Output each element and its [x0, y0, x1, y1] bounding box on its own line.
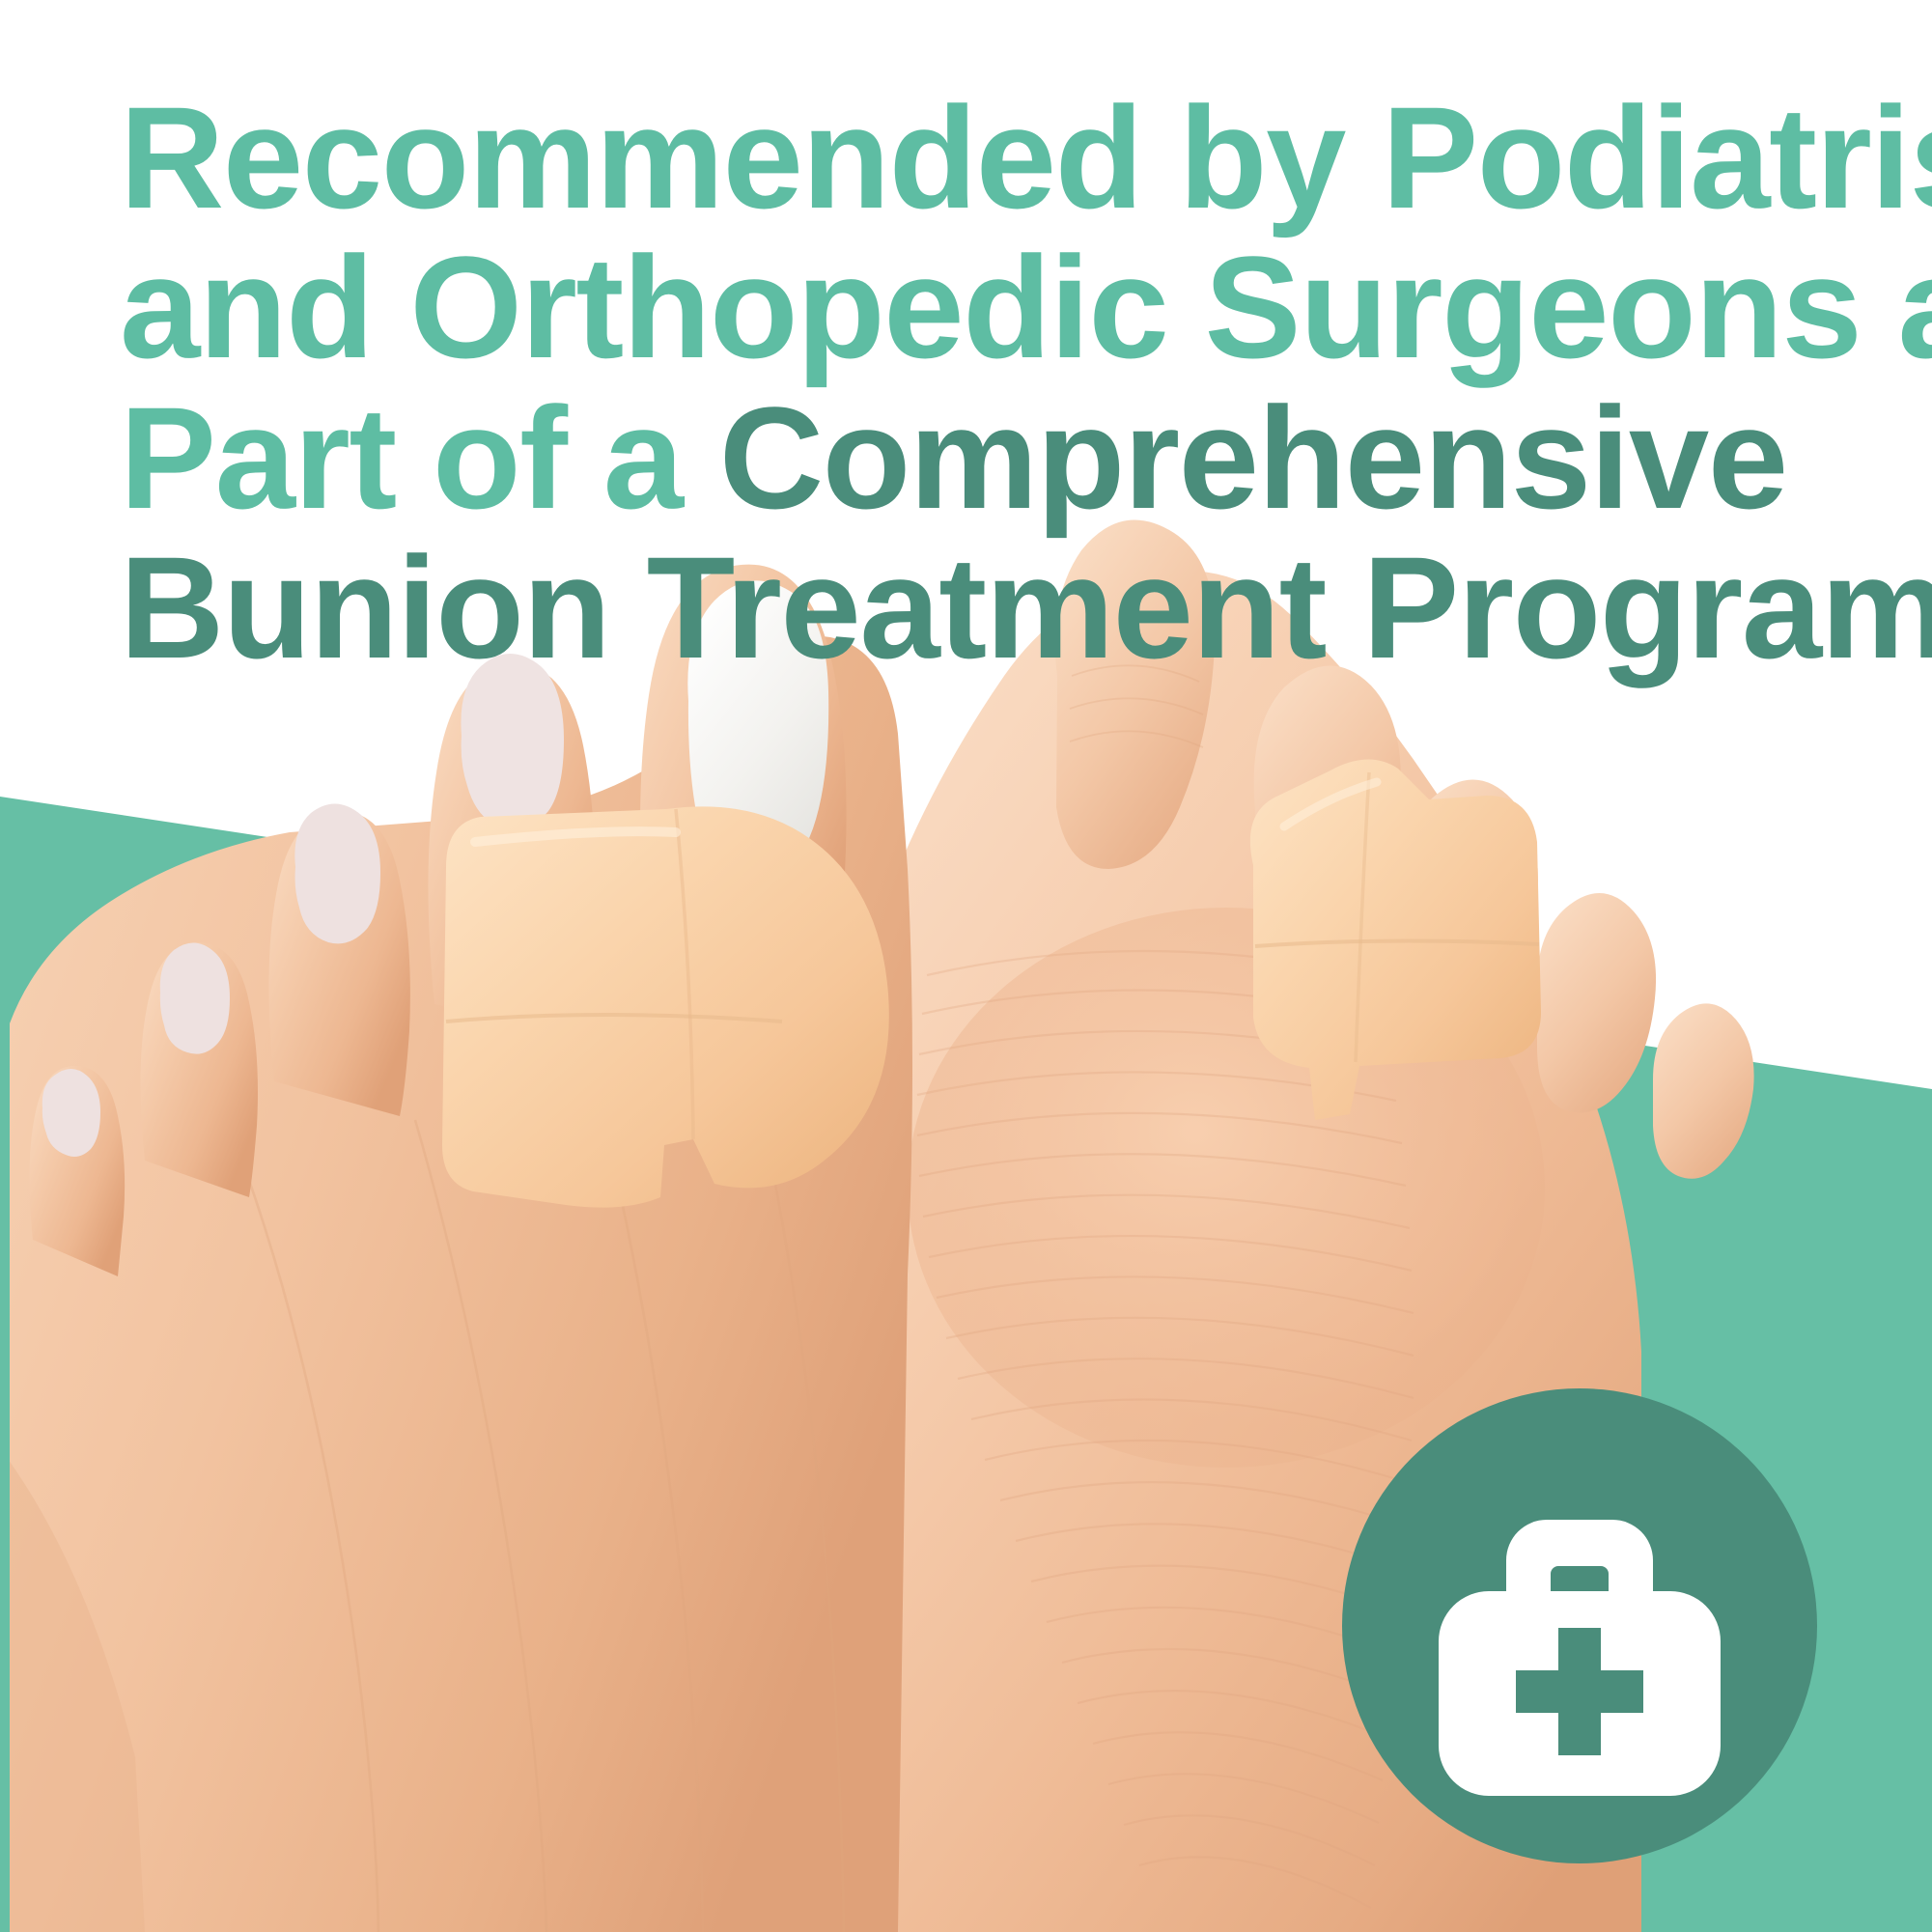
headline-line-2-text: and Orthopedic Surgeons as	[120, 226, 1932, 388]
headline-line-2: and Orthopedic Surgeons as	[120, 233, 1848, 382]
left-fourth-toenail	[160, 942, 230, 1053]
headline-line-1-text: Recommended by Podiatrists	[120, 76, 1932, 238]
headline-line-3a-text: Part of a	[120, 377, 719, 539]
medical-bag-icon	[1342, 1388, 1817, 1863]
right-pinky-toe	[1653, 1003, 1754, 1178]
headline-line-1: Recommended by Podiatrists	[120, 83, 1848, 233]
banner-canvas: Recommended by Podiatrists and Orthopedi…	[0, 0, 1932, 1932]
medical-bag-badge	[1342, 1388, 1817, 1863]
left-pinky-toenail	[42, 1069, 100, 1157]
headline-line-3b-text: Comprehensive	[719, 377, 1787, 539]
headline-line-4: Bunion Treatment Program.	[120, 533, 1848, 683]
left-third-toenail	[294, 803, 380, 943]
headline: Recommended by Podiatrists and Orthopedi…	[120, 83, 1848, 683]
right-fourth-toe	[1537, 893, 1656, 1112]
headline-line-4-text: Bunion Treatment Program.	[120, 526, 1932, 688]
headline-line-3: Part of a Comprehensive	[120, 383, 1848, 533]
